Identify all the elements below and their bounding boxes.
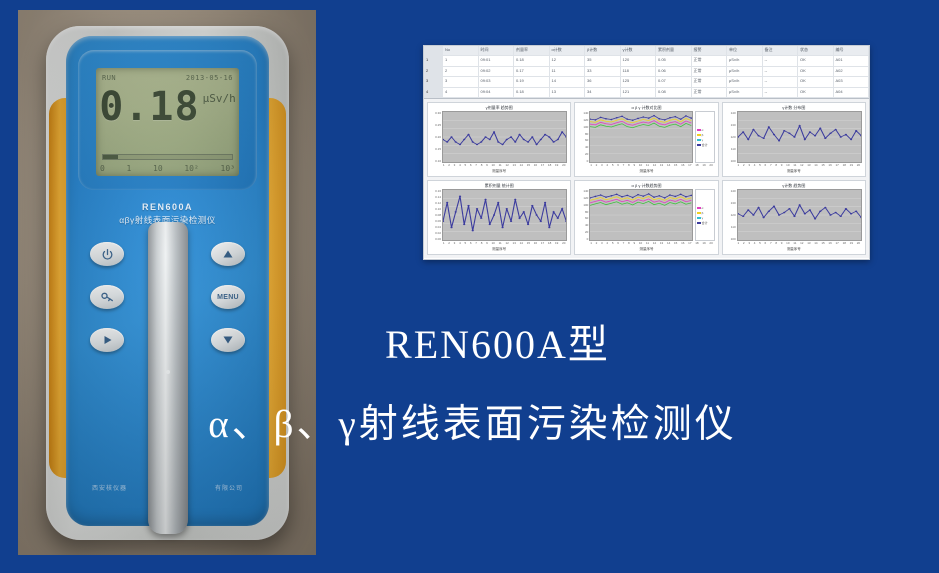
legend-label: γ [702, 216, 704, 220]
table-cell: -- [763, 56, 799, 65]
x-axis-label: 测量序号 [431, 247, 567, 252]
plot-canvas [589, 189, 692, 241]
y-axis: 140130120110100 [726, 111, 737, 163]
table-cell: 累积剂量 [656, 46, 692, 55]
chart-body: 140120100806040200αβγ合计 [578, 111, 714, 163]
chart-body: 0.300.250.200.150.10 [431, 111, 567, 163]
device-bottom-text-right: 有限公司 [215, 483, 243, 492]
y-tick: 110 [726, 225, 736, 229]
plot-area: αβγ合计 [589, 111, 714, 163]
table-cell: -- [763, 77, 799, 86]
table-cell: OK [798, 56, 834, 65]
y-tick: 20 [578, 152, 588, 156]
y-axis: 0.160.140.120.100.080.060.040.020.00 [431, 189, 442, 241]
menu-button[interactable]: MENU [211, 285, 245, 309]
table-cell: μSv/h [727, 67, 763, 76]
row-index-cell: 2 [424, 67, 443, 76]
table-cell: μSv/h [727, 88, 763, 97]
row-index-cell [424, 46, 443, 55]
legend-item: γ [697, 216, 713, 220]
y-axis: 0.300.250.200.150.10 [431, 111, 442, 163]
legend-swatch [697, 207, 701, 209]
table-cell: 2 [443, 67, 479, 76]
legend-item: β [697, 133, 713, 137]
y-tick: 0.08 [431, 213, 441, 217]
y-tick: 40 [578, 223, 588, 227]
table-cell: 09:03 [479, 77, 515, 86]
table-cell: OK [798, 88, 834, 97]
y-tick: 0.02 [431, 231, 441, 235]
power-button[interactable] [90, 242, 124, 266]
table-cell: 正常 [692, 67, 728, 76]
y-tick: 80 [578, 132, 588, 136]
lcd-bezel: RUN 2013-05-16 0.18 μSv/h 0 1 10 10² [78, 50, 257, 190]
y-tick: 140 [726, 111, 736, 115]
legend-label: β [702, 133, 704, 137]
table-cell: 120 [621, 56, 657, 65]
y-tick: 0.30 [431, 111, 441, 115]
chart-3: γ计数 分布图140130120110100123456789101112131… [722, 102, 866, 177]
lcd-tick-0: 0 [100, 164, 105, 173]
y-tick: 100 [578, 203, 588, 207]
lcd-status-right: 2013-05-16 [186, 74, 233, 82]
plot-area [737, 111, 862, 163]
y-tick: 0.16 [431, 189, 441, 193]
row-index-cell: 1 [424, 56, 443, 65]
key-icon [100, 291, 115, 303]
table-cell: 时间 [479, 46, 515, 55]
power-icon [101, 248, 114, 261]
table-cell: 118 [621, 67, 657, 76]
lcd-reading: 0.18 μSv/h [96, 83, 239, 131]
table-row: 4409:040.1813341210.08正常μSv/h--OKA04 [424, 88, 869, 98]
table-cell: 11 [550, 67, 586, 76]
table-cell: 36 [585, 77, 621, 86]
triangle-up-icon [221, 248, 235, 260]
plot-area [737, 189, 862, 241]
table-cell: 35 [585, 56, 621, 65]
table-cell: 编号 [834, 46, 870, 55]
y-axis: 140120100806040200 [578, 111, 589, 163]
table-header-row: No时间剂量率α计数β计数γ计数累积剂量报警单位备注状态编号 [424, 46, 869, 56]
legend-swatch [697, 222, 701, 224]
y-axis: 140130120110100 [726, 189, 737, 241]
table-cell: 状态 [798, 46, 834, 55]
table-cell: 单位 [727, 46, 763, 55]
table-cell: 1 [443, 56, 479, 65]
table-cell: 正常 [692, 88, 728, 97]
table-cell: -- [763, 88, 799, 97]
y-tick: 0.10 [431, 207, 441, 211]
x-axis-label: 测量序号 [578, 247, 714, 252]
legend-label: γ [702, 138, 704, 142]
legend-swatch [697, 212, 701, 214]
table-cell: 09:01 [479, 56, 515, 65]
product-photo: RUN 2013-05-16 0.18 μSv/h 0 1 10 10² [18, 10, 316, 555]
legend-label: α [702, 128, 704, 132]
device-bottom-text-left: 西安核仪器 [92, 483, 127, 492]
y-tick: 140 [726, 189, 736, 193]
legend-label: β [702, 211, 704, 215]
table-cell: A04 [834, 88, 870, 97]
chart-2: α β γ 计数对比图140120100806040200αβγ合计123456… [574, 102, 718, 177]
device-model-label: REN600A [66, 202, 269, 212]
table-cell: 14 [550, 77, 586, 86]
table-cell: 报警 [692, 46, 728, 55]
table-cell: μSv/h [727, 77, 763, 86]
plot-canvas [737, 189, 862, 241]
chart-1: γ剂量率 趋势图0.300.250.200.150.10123456789101… [427, 102, 571, 177]
table-cell: 3 [443, 77, 479, 86]
lcd-tick-1: 1 [127, 164, 132, 173]
table-cell: 12 [550, 56, 586, 65]
legend-item: 合计 [697, 143, 713, 147]
table-cell: 09:02 [479, 67, 515, 76]
table-cell: 4 [443, 88, 479, 97]
legend-item: 合计 [697, 221, 713, 225]
y-tick: 140 [578, 189, 588, 193]
menu-button-label: MENU [217, 294, 239, 301]
row-index-cell: 3 [424, 77, 443, 86]
y-tick: 120 [578, 118, 588, 122]
y-tick: 0.14 [431, 195, 441, 199]
plot-canvas [737, 111, 862, 163]
y-tick: 0.20 [431, 135, 441, 139]
y-tick: 120 [726, 213, 736, 217]
table-cell: OK [798, 77, 834, 86]
software-screenshot-panel: No时间剂量率α计数β计数γ计数累积剂量报警单位备注状态编号1109:010.1… [423, 45, 870, 260]
y-axis: 140120100806040200 [578, 189, 589, 241]
x-axis-label: 测量序号 [726, 169, 862, 174]
title-block: REN600A型 α、β、γ射线表面污染检测仪 [0, 318, 939, 456]
table-cell: -- [763, 67, 799, 76]
plot-canvas [442, 111, 567, 163]
legend-label: 合计 [702, 143, 708, 147]
chart-5: α β γ 计数趋势图140120100806040200αβγ合计123456… [574, 180, 718, 255]
table-cell: 0.18 [514, 88, 550, 97]
charts-grid: γ剂量率 趋势图0.300.250.200.150.10123456789101… [424, 99, 869, 258]
up-button[interactable] [211, 242, 245, 266]
table-cell: 0.05 [656, 56, 692, 65]
lcd-status-left: RUN [102, 74, 116, 82]
lcd-bargraph [102, 154, 233, 160]
chart-6: γ计数 趋势图140130120110100123456789101112131… [722, 180, 866, 255]
y-tick: 130 [726, 123, 736, 127]
chart-legend: αβγ合计 [695, 189, 715, 241]
chart-legend: αβγ合计 [695, 111, 715, 163]
table-cell: 0.17 [514, 67, 550, 76]
table-cell: 34 [585, 88, 621, 97]
chart-4: 累积剂量 统计图0.160.140.120.100.080.060.040.02… [427, 180, 571, 255]
y-tick: 0.04 [431, 225, 441, 229]
page-title: REN600A型 [56, 318, 939, 372]
y-tick: 0.12 [431, 201, 441, 205]
lcd-tick-2: 10 [153, 164, 163, 173]
table-cell: 09:04 [479, 88, 515, 97]
table-cell: α计数 [550, 46, 586, 55]
lcd-screen: RUN 2013-05-16 0.18 μSv/h 0 1 10 10² [96, 68, 239, 176]
plot-canvas [589, 111, 692, 163]
table-row: 2209:020.1711331180.06正常μSv/h--OKA02 [424, 67, 869, 77]
table-cell: 正常 [692, 56, 728, 65]
table-cell: 125 [621, 77, 657, 86]
plot-area: αβγ合计 [589, 189, 714, 241]
lcd-scale: 0 1 10 10² 10³ [100, 163, 235, 174]
y-tick: 20 [578, 230, 588, 234]
table-cell: 0.08 [656, 88, 692, 97]
table-row: 1109:010.1812351200.05正常μSv/h--OKA01 [424, 56, 869, 66]
lcd-value: 0.18 [99, 87, 199, 127]
x-axis-label: 测量序号 [578, 169, 714, 174]
lcd-tick-4: 10³ [221, 164, 235, 173]
legend-label: α [702, 206, 704, 210]
table-cell: 13 [550, 88, 586, 97]
legend-item: γ [697, 138, 713, 142]
lcd-tick-3: 10² [184, 164, 198, 173]
y-tick: 130 [726, 201, 736, 205]
table-cell: β计数 [585, 46, 621, 55]
table-cell: A02 [834, 67, 870, 76]
slide-canvas: RUN 2013-05-16 0.18 μSv/h 0 1 10 10² [0, 0, 939, 573]
row-index-cell: 4 [424, 88, 443, 97]
y-tick: 120 [726, 135, 736, 139]
data-table: No时间剂量率α计数β计数γ计数累积剂量报警单位备注状态编号1109:010.1… [424, 46, 869, 99]
y-tick: 140 [578, 111, 588, 115]
legend-swatch [697, 217, 701, 219]
legend-label: 合计 [702, 221, 708, 225]
y-tick: 100 [578, 125, 588, 129]
y-tick: 60 [578, 138, 588, 142]
table-cell: OK [798, 67, 834, 76]
page-subtitle: α、β、γ射线表面污染检测仪 [6, 394, 939, 456]
x-axis-label: 测量序号 [431, 169, 567, 174]
table-cell: 0.19 [514, 77, 550, 86]
legend-item: β [697, 211, 713, 215]
y-tick: 60 [578, 216, 588, 220]
x-axis-label: 测量序号 [726, 247, 862, 252]
y-tick: 0.15 [431, 147, 441, 151]
table-row: 3309:030.1914361250.07正常μSv/h--OKA03 [424, 77, 869, 87]
table-cell: 备注 [763, 46, 799, 55]
y-tick: 120 [578, 196, 588, 200]
chart-body: 0.160.140.120.100.080.060.040.020.00 [431, 189, 567, 241]
table-cell: 0.06 [656, 67, 692, 76]
table-cell: 33 [585, 67, 621, 76]
table-cell: γ计数 [621, 46, 657, 55]
plot-area [442, 189, 567, 241]
legend-swatch [697, 134, 701, 136]
y-tick: 40 [578, 145, 588, 149]
table-cell: No [443, 46, 479, 55]
plot-area [442, 111, 567, 163]
device-body: RUN 2013-05-16 0.18 μSv/h 0 1 10 10² [46, 26, 289, 540]
table-cell: 0.07 [656, 77, 692, 86]
legend-swatch [697, 139, 701, 141]
y-tick: 0.25 [431, 123, 441, 127]
lcd-unit: μSv/h [203, 92, 236, 105]
chart-body: 140130120110100 [726, 111, 862, 163]
plot-canvas [442, 189, 567, 241]
key-button[interactable] [90, 285, 124, 309]
chart-body: 140130120110100 [726, 189, 862, 241]
legend-item: α [697, 128, 713, 132]
table-cell: A03 [834, 77, 870, 86]
table-cell: 剂量率 [514, 46, 550, 55]
legend-item: α [697, 206, 713, 210]
table-cell: μSv/h [727, 56, 763, 65]
legend-swatch [697, 144, 701, 146]
table-cell: 0.18 [514, 56, 550, 65]
y-tick: 0.06 [431, 219, 441, 223]
y-tick: 110 [726, 147, 736, 151]
table-cell: 正常 [692, 77, 728, 86]
table-cell: A01 [834, 56, 870, 65]
chart-body: 140120100806040200αβγ合计 [578, 189, 714, 241]
legend-swatch [697, 129, 701, 131]
table-cell: 121 [621, 88, 657, 97]
y-tick: 80 [578, 210, 588, 214]
